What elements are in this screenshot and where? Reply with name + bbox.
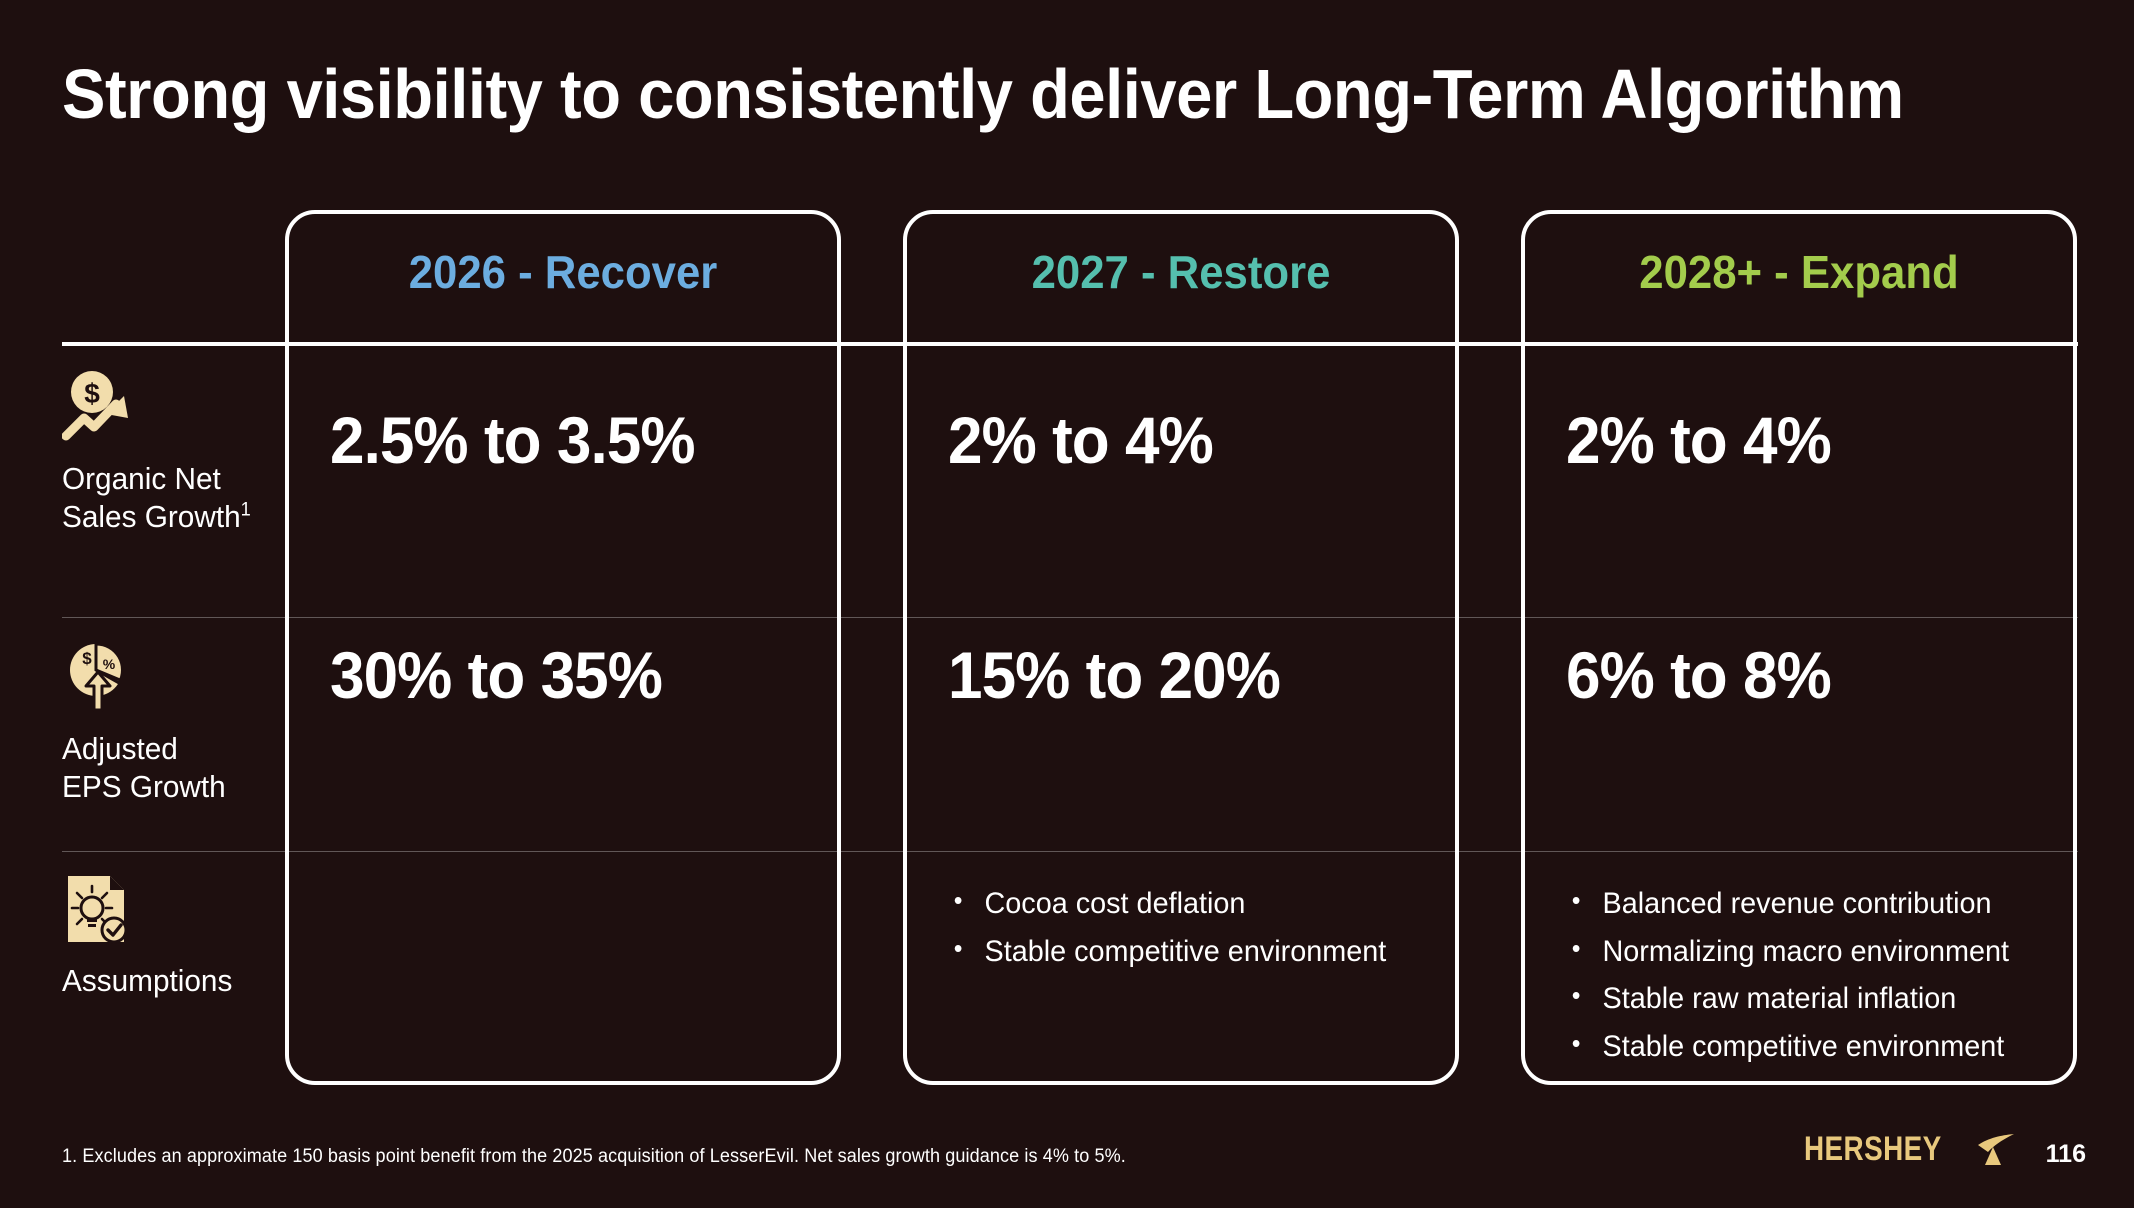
page-title: Strong visibility to consistently delive… bbox=[62, 58, 1941, 132]
value-organic-recover: 2.5% to 3.5% bbox=[330, 402, 695, 478]
footnote-text: 1. Excludes an approximate 150 basis poi… bbox=[62, 1146, 1126, 1168]
value-eps-recover: 30% to 35% bbox=[330, 637, 662, 713]
value-eps-expand: 6% to 8% bbox=[1566, 637, 1831, 713]
page-number: 116 bbox=[2046, 1140, 2086, 1169]
assumption-item: Stable competitive environment bbox=[1566, 1029, 2065, 1066]
hershey-logo: HERSHEY bbox=[1804, 1130, 2016, 1169]
row-divider-rule-2 bbox=[62, 851, 2078, 852]
assumption-item: Stable competitive environment bbox=[948, 934, 1447, 971]
assumptions-list-expand: Balanced revenue contributionNormalizing… bbox=[1566, 886, 2086, 1076]
assumption-item: Cocoa cost deflation bbox=[948, 886, 1447, 923]
column-header-restore: 2027 - Restore bbox=[917, 245, 1445, 299]
row-label-assumptions: Assumptions bbox=[62, 872, 277, 1000]
pie-chart-dollar-percent-up-arrow-icon: $ % bbox=[62, 640, 142, 718]
svg-text:$: $ bbox=[82, 649, 92, 668]
assumption-item: Balanced revenue contribution bbox=[1566, 886, 2065, 923]
value-organic-restore: 2% to 4% bbox=[948, 402, 1213, 478]
row-label-line1: Adjusted bbox=[62, 731, 178, 766]
assumptions-list-restore: Cocoa cost deflationStable competitive e… bbox=[948, 886, 1468, 981]
slide-root: Strong visibility to consistently delive… bbox=[0, 0, 2134, 1208]
column-header-recover: 2026 - Recover bbox=[299, 245, 827, 299]
column-header-expand: 2028+ - Expand bbox=[1535, 245, 2063, 299]
row-label-line2: EPS Growth bbox=[62, 769, 226, 804]
assumption-item: Normalizing macro environment bbox=[1566, 934, 2065, 971]
svg-text:%: % bbox=[103, 656, 116, 672]
hershey-kiss-swoosh-icon bbox=[1976, 1133, 2016, 1167]
row-divider-rule-1 bbox=[62, 617, 2078, 618]
document-lightbulb-check-icon bbox=[62, 872, 142, 950]
row-label-line1: Assumptions bbox=[62, 963, 232, 998]
value-organic-expand: 2% to 4% bbox=[1566, 402, 1831, 478]
row-label-line2: Sales Growth bbox=[62, 499, 241, 534]
header-divider-rule bbox=[62, 342, 2078, 346]
row-label-organic-net-sales-growth: $ Organic Net Sales Growth1 bbox=[62, 370, 277, 536]
assumption-item: Stable raw material inflation bbox=[1566, 981, 2065, 1018]
row-label-adjusted-eps-growth: $ % Adjusted EPS Growth bbox=[62, 640, 277, 806]
row-label-text: Assumptions bbox=[62, 962, 268, 1000]
row-label-footnote-marker: 1 bbox=[241, 499, 251, 520]
row-label-text: Organic Net Sales Growth1 bbox=[62, 460, 268, 536]
hershey-wordmark: HERSHEY bbox=[1804, 1130, 1942, 1169]
dollar-coin-growth-arrow-icon: $ bbox=[62, 370, 142, 448]
value-eps-restore: 15% to 20% bbox=[948, 637, 1280, 713]
row-label-line1: Organic Net bbox=[62, 461, 221, 496]
svg-text:$: $ bbox=[84, 378, 100, 409]
row-label-text: Adjusted EPS Growth bbox=[62, 730, 268, 806]
